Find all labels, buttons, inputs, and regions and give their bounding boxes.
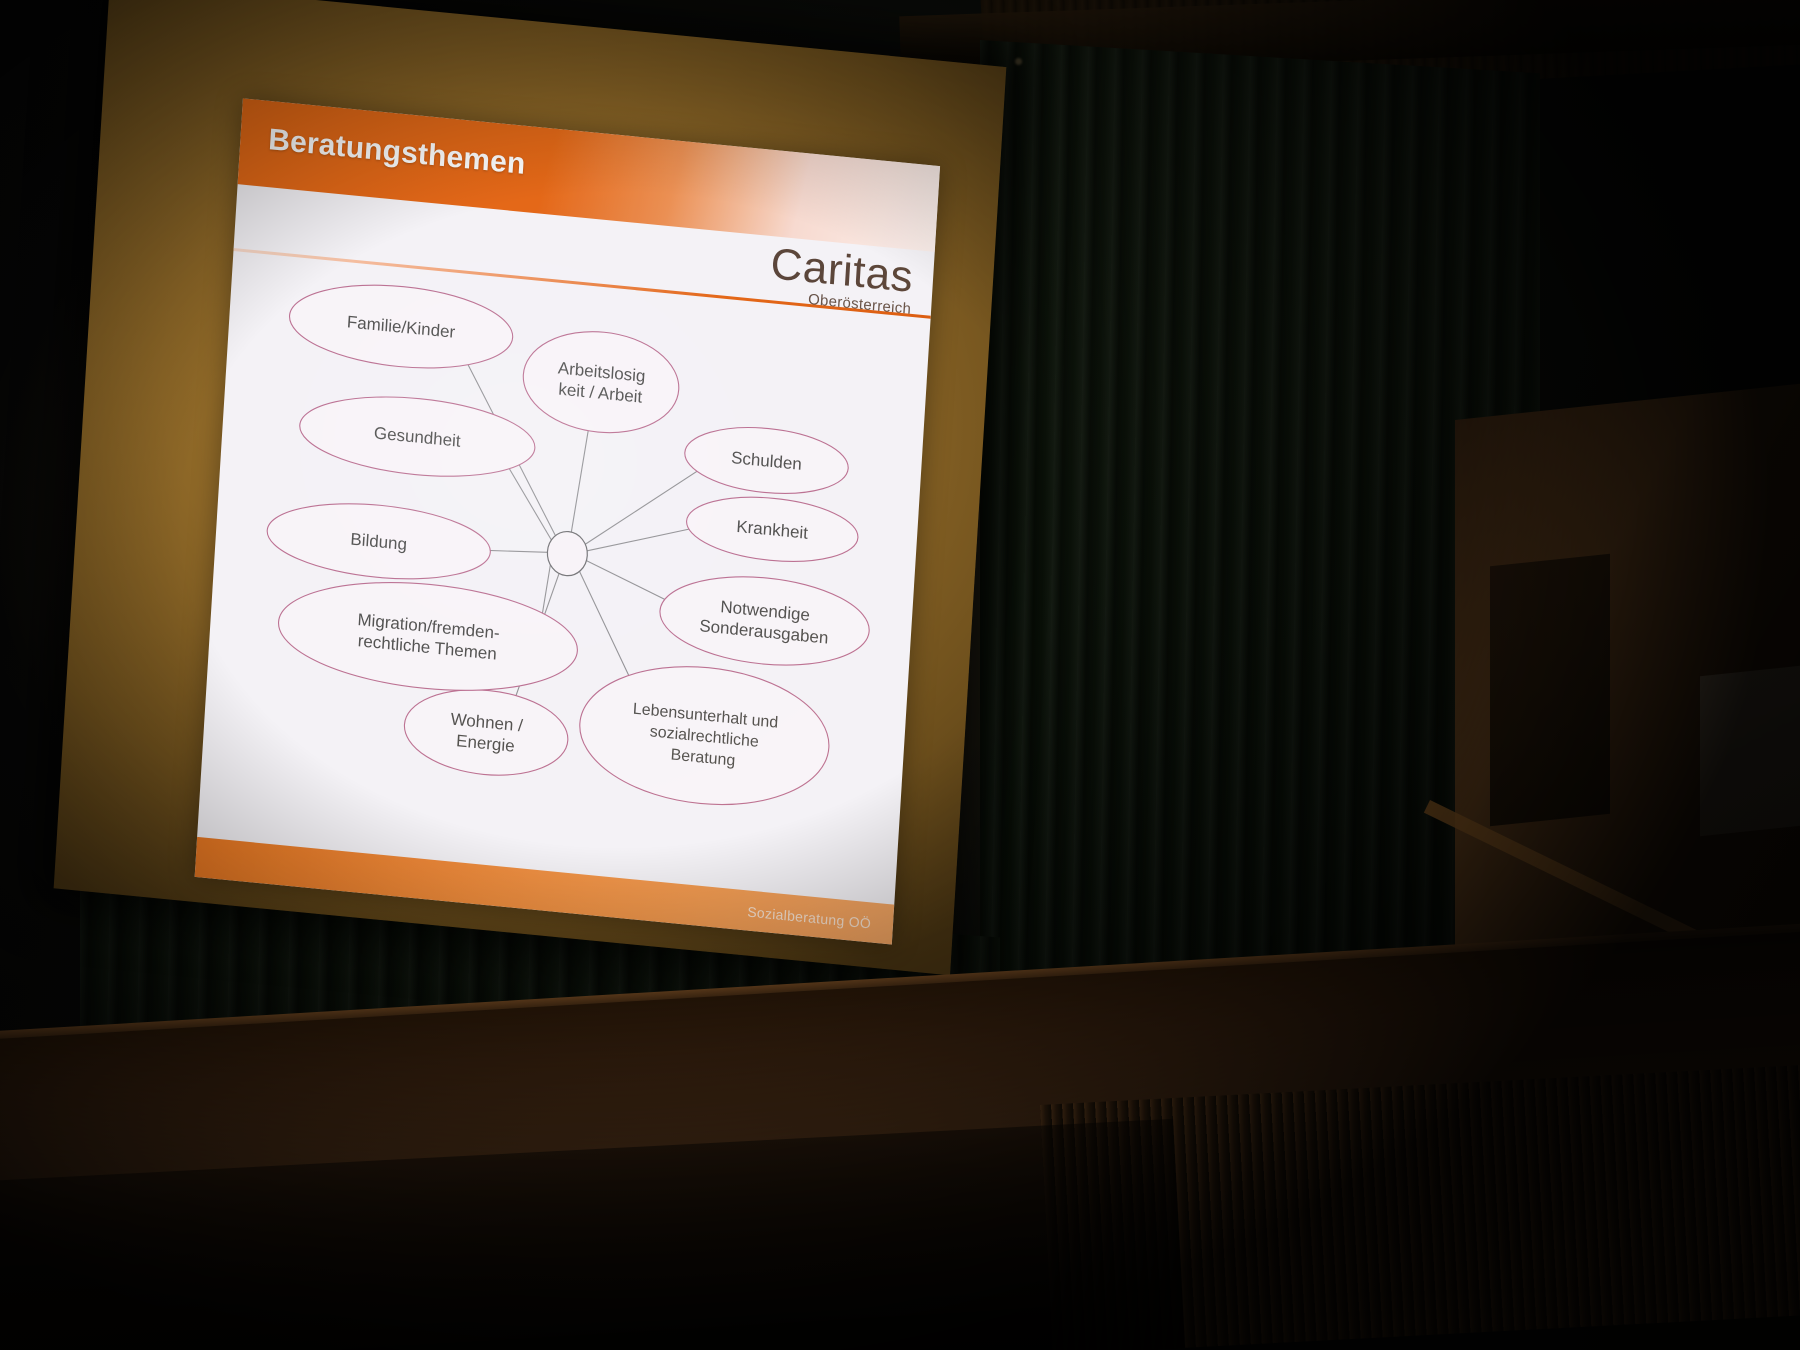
mindmap-node-wohnen[interactable] [402, 683, 571, 783]
mindmap-link-sonder [584, 561, 673, 603]
wall-panel-dark [1490, 554, 1610, 827]
presentation-slide: Beratungsthemen Caritas Oberösterreich F… [195, 98, 940, 944]
mindmap-svg: Familie/KinderArbeitslosigkeit / ArbeitS… [197, 248, 931, 905]
mindmap-hub-node [546, 530, 589, 578]
mindmap-node-arbeit[interactable] [520, 325, 682, 440]
mindmap-link-schulden [585, 458, 700, 555]
photo-scene: Beratungsthemen Caritas Oberösterreich F… [0, 0, 1800, 1350]
projection-screen: Beratungsthemen Caritas Oberösterreich F… [52, 0, 1026, 997]
mindmap-link-gesundheit [502, 464, 555, 540]
ceiling-light-speck [1015, 58, 1022, 65]
mindmap-link-bildung [481, 546, 547, 557]
mindmap-link-arbeit [571, 426, 589, 533]
wall-poster [1700, 664, 1800, 837]
mindmap-node-migration[interactable] [275, 570, 580, 703]
mindmap-link-krankheit [587, 518, 695, 562]
mindmap-node-sonder[interactable] [657, 568, 871, 674]
beratungsthemen-mindmap: Familie/KinderArbeitslosigkeit / ArbeitS… [197, 248, 931, 905]
mindmap-link-lebens [573, 571, 638, 681]
